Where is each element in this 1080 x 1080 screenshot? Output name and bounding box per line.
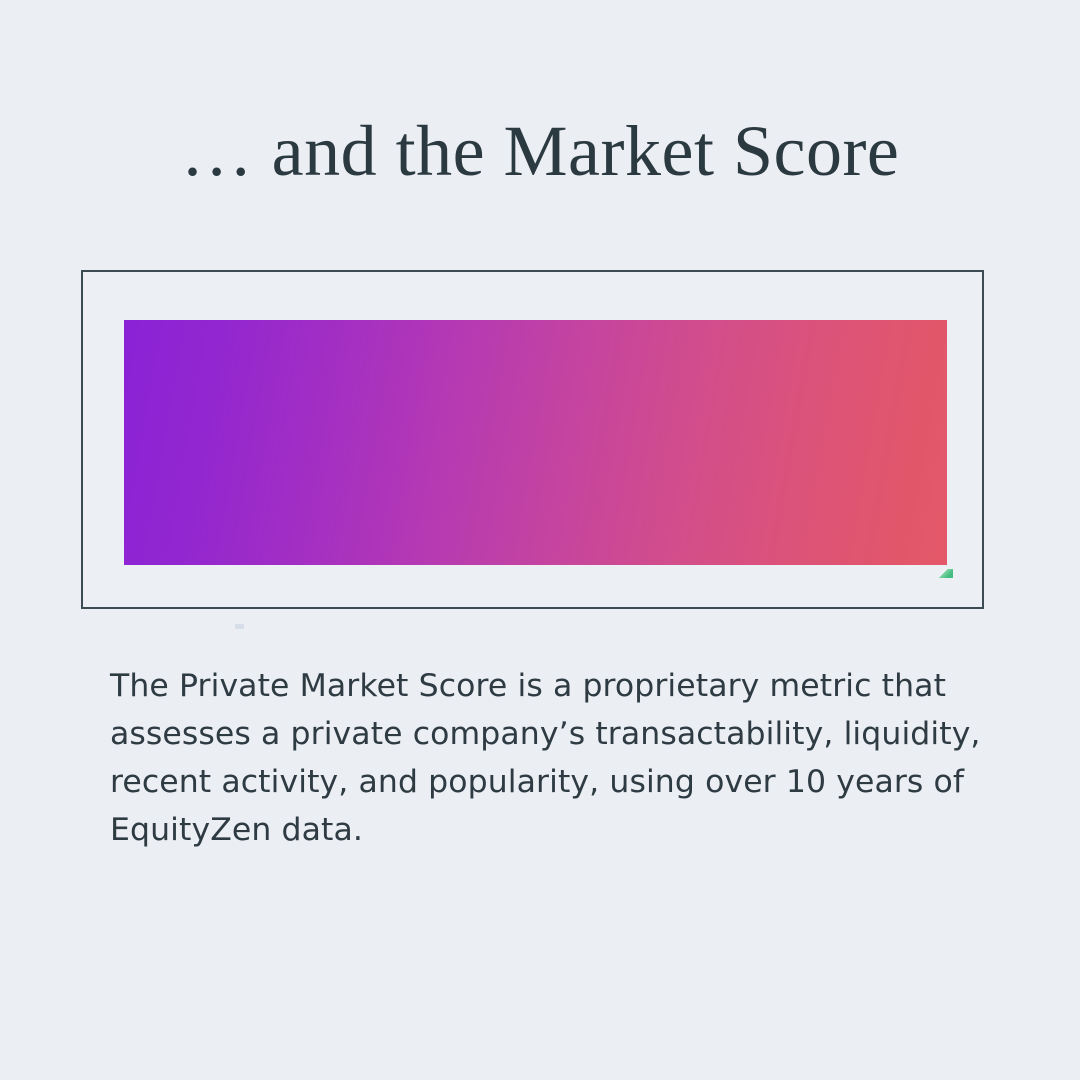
green-arrow-artifact-icon <box>939 569 953 578</box>
body-copy-paragraph: The Private Market Score is a proprietar… <box>110 662 1010 854</box>
media-frame <box>81 270 984 609</box>
body-copy: The Private Market Score is a proprietar… <box>110 662 1010 854</box>
faint-artifact-mark <box>235 624 244 629</box>
gradient-banner-image <box>124 320 947 565</box>
page-title: … and the Market Score <box>0 108 1080 194</box>
slide-root: … and the Market Score The Private Marke… <box>0 0 1080 1080</box>
